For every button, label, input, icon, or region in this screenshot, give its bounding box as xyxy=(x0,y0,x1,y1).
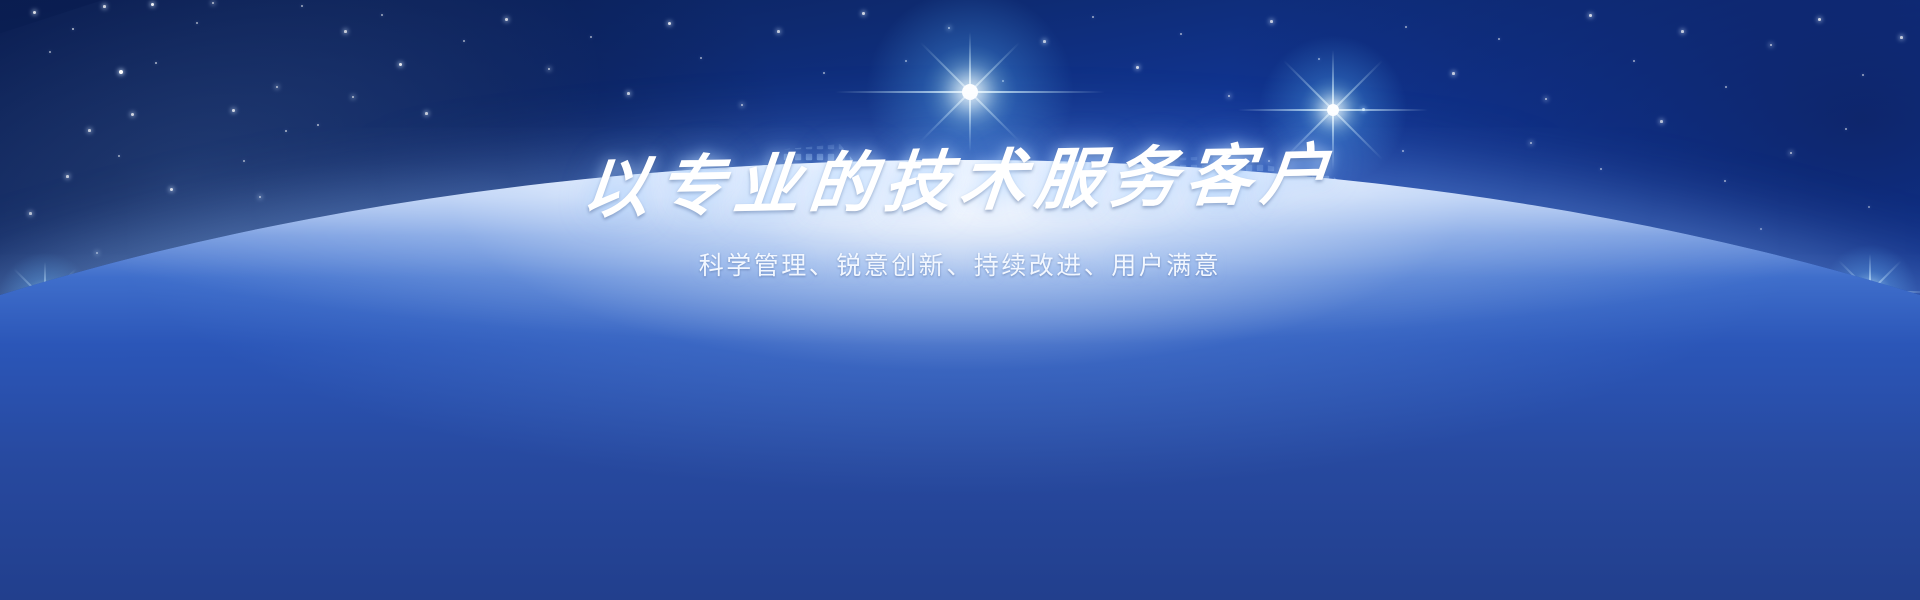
star xyxy=(548,68,550,70)
star xyxy=(72,28,74,30)
star xyxy=(1868,206,1870,208)
star xyxy=(131,113,134,116)
star xyxy=(1845,128,1847,130)
star xyxy=(1452,72,1455,75)
star xyxy=(1633,60,1635,62)
star xyxy=(232,109,235,112)
star xyxy=(151,3,154,6)
star xyxy=(1043,40,1046,43)
star xyxy=(1818,18,1821,21)
star xyxy=(1405,26,1407,28)
star xyxy=(119,70,123,74)
star xyxy=(777,30,780,33)
star xyxy=(668,22,671,25)
star xyxy=(1136,66,1139,69)
star xyxy=(1545,98,1547,100)
star xyxy=(155,62,157,64)
star xyxy=(1770,44,1772,46)
star xyxy=(1092,16,1094,18)
star xyxy=(1681,30,1684,33)
star xyxy=(463,40,465,42)
star xyxy=(1760,228,1762,230)
star xyxy=(344,30,347,33)
star xyxy=(33,11,36,14)
star xyxy=(1589,14,1592,17)
star xyxy=(1180,33,1182,35)
star xyxy=(1228,95,1230,97)
star xyxy=(196,22,198,24)
star xyxy=(103,5,106,8)
star xyxy=(1270,20,1273,23)
star xyxy=(399,63,402,66)
star xyxy=(88,129,91,132)
star xyxy=(1002,80,1004,82)
star xyxy=(948,27,950,29)
star xyxy=(381,14,383,16)
star xyxy=(1498,38,1500,40)
star xyxy=(301,5,303,7)
banner-subline: 科学管理、锐意创新、持续改进、用户满意 xyxy=(0,250,1920,283)
star xyxy=(590,36,592,38)
star xyxy=(627,92,630,95)
star xyxy=(823,72,825,74)
star xyxy=(49,51,51,53)
star xyxy=(505,18,508,21)
star xyxy=(1660,120,1663,123)
star xyxy=(212,2,214,4)
star xyxy=(905,60,907,62)
star xyxy=(352,96,354,98)
star xyxy=(1362,108,1365,111)
star xyxy=(1318,58,1320,60)
star xyxy=(285,130,287,132)
star xyxy=(862,12,865,15)
star xyxy=(276,86,278,88)
star xyxy=(425,112,428,115)
star xyxy=(1725,86,1727,88)
star xyxy=(317,124,319,126)
star xyxy=(118,155,120,157)
star xyxy=(1862,74,1864,76)
star xyxy=(700,57,702,59)
star xyxy=(1900,36,1903,39)
star xyxy=(741,104,743,106)
hero-banner: 以专业的技术服务客户 科学管理、锐意创新、持续改进、用户满意 xyxy=(0,0,1920,600)
